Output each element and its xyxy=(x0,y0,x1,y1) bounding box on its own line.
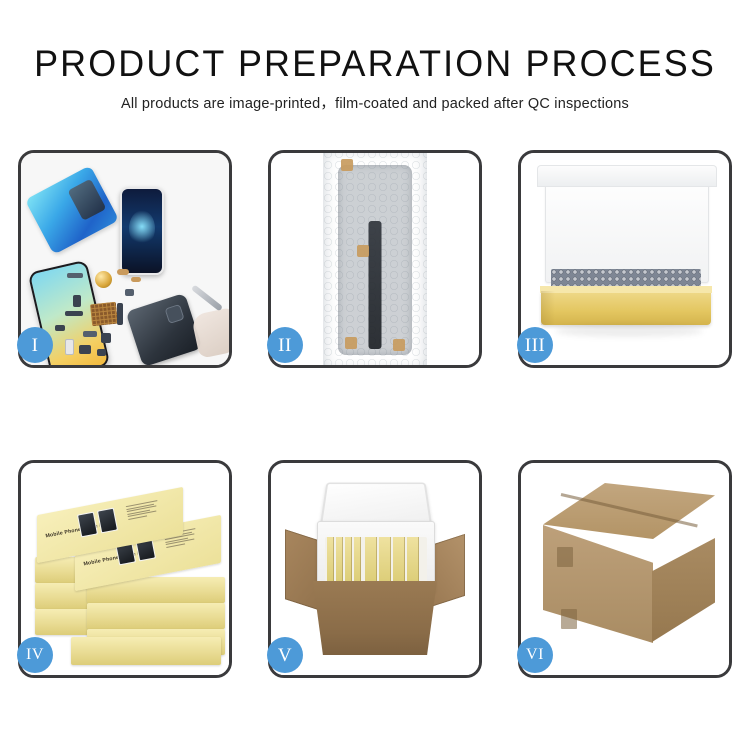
step-image-4: Mobile Phone Spare Parts Mobile Phone Sp… xyxy=(21,463,229,675)
spare-part xyxy=(67,273,83,278)
step-badge-3: III xyxy=(517,327,553,363)
carton-body xyxy=(313,581,437,655)
step-panel-2: II xyxy=(268,150,482,368)
spare-part xyxy=(73,295,81,307)
spare-part xyxy=(117,269,129,275)
drop-shadow xyxy=(555,325,703,337)
step-image-5 xyxy=(271,463,479,675)
spare-part xyxy=(65,311,83,316)
spare-part xyxy=(97,349,106,356)
spare-part xyxy=(79,345,91,354)
step-badge-6: VI xyxy=(517,637,553,673)
stacked-box xyxy=(71,637,221,665)
screwdriver-icon xyxy=(191,285,223,312)
stacked-box xyxy=(87,603,225,629)
technician-hand xyxy=(191,307,229,359)
yellow-box-base xyxy=(541,291,711,325)
steps-grid: I II III xyxy=(0,0,750,750)
step-badge-5: V xyxy=(267,637,303,673)
box-stack: Mobile Phone Spare Parts Mobile Phone Sp… xyxy=(31,485,227,665)
poster-root: PRODUCT PREPARATION PROCESS All products… xyxy=(0,0,750,750)
step-image-3 xyxy=(521,153,729,365)
phone-screen-front xyxy=(120,187,164,275)
step-panel-4: Mobile Phone Spare Parts Mobile Phone Sp… xyxy=(18,460,232,678)
spare-part xyxy=(65,339,74,355)
spare-part xyxy=(131,277,141,282)
carton-front-face xyxy=(543,525,653,643)
chip-grid-part xyxy=(90,302,118,327)
step-badge-4: IV xyxy=(17,637,53,673)
spare-part xyxy=(83,331,97,337)
tape-tab xyxy=(393,339,405,351)
step-image-1 xyxy=(21,153,229,365)
phone-screen-teal xyxy=(171,164,213,268)
speaker-module-part xyxy=(95,271,112,288)
step-panel-3: III xyxy=(518,150,732,368)
adhesive-film-graphic xyxy=(25,165,119,254)
phone-back-housing xyxy=(126,293,203,365)
white-box-lid xyxy=(545,171,709,283)
spare-part xyxy=(101,333,111,343)
step-panel-6: VI xyxy=(518,460,732,678)
step-panel-1: I xyxy=(18,150,232,368)
step-badge-2: II xyxy=(267,327,303,363)
step-badge-1: I xyxy=(17,327,53,363)
step-image-2 xyxy=(271,153,479,365)
spare-part xyxy=(117,303,123,325)
bubble-wrap-bag xyxy=(323,153,427,365)
spare-part xyxy=(55,325,65,331)
carton-tab xyxy=(561,609,577,629)
step-image-6 xyxy=(521,463,729,675)
flex-cable-part xyxy=(369,221,382,349)
carton-tab xyxy=(557,547,573,567)
carton-side-face xyxy=(652,538,715,642)
tape-tab xyxy=(357,245,369,257)
packed-yellow-boxes xyxy=(325,537,427,583)
spare-part xyxy=(125,289,134,296)
tape-tab xyxy=(341,159,353,171)
tape-tab xyxy=(345,337,357,349)
step-panel-5: V xyxy=(268,460,482,678)
